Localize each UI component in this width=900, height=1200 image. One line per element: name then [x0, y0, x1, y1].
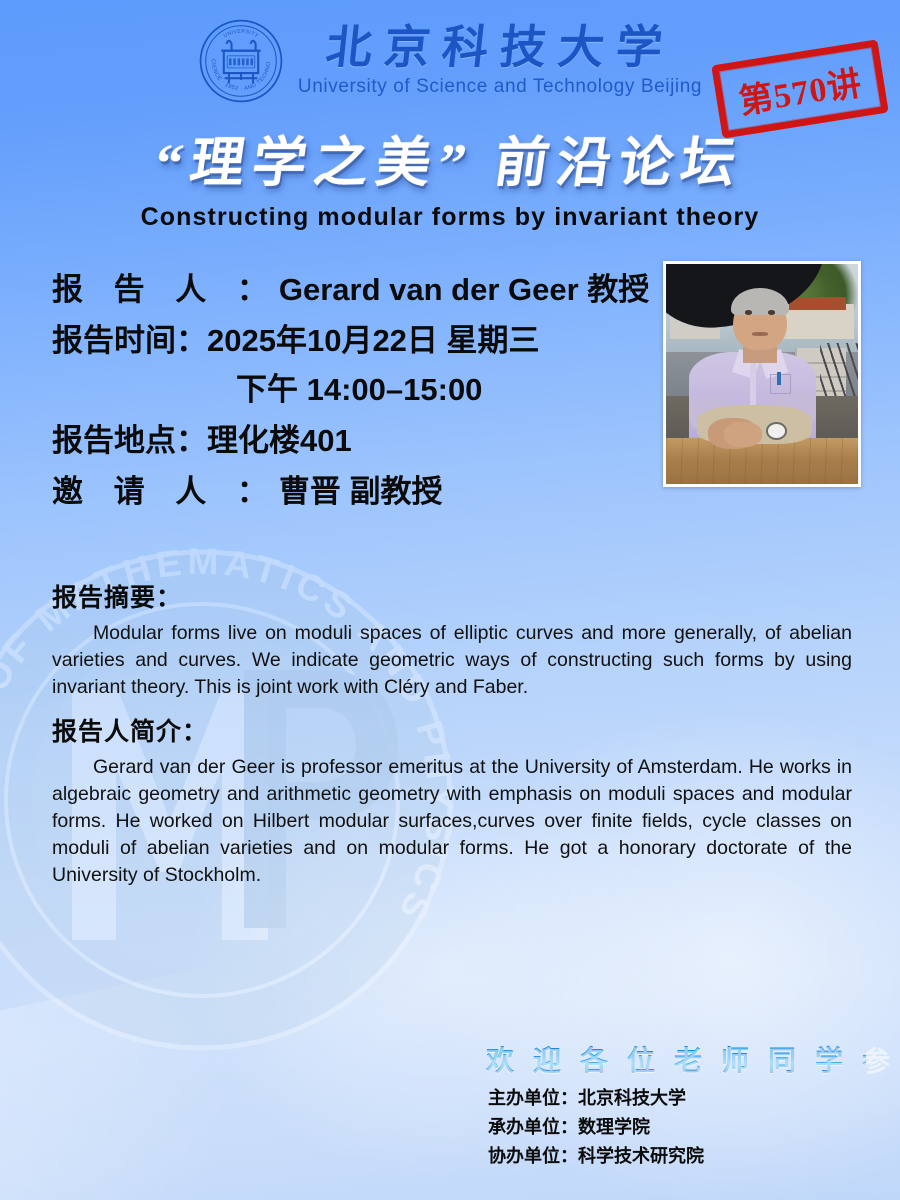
speaker-label: 报 告 人 ： [52, 268, 279, 313]
time-value: 2025年10月22日 星期三 [207, 319, 540, 364]
place-label: 报告地点： [52, 419, 207, 464]
event-info-block: 报 告 人 ： Gerard van der Geer 教授 报告时间： 202… [52, 268, 672, 521]
bio-text: Gerard van der Geer is professor emeritu… [52, 754, 852, 889]
speaker-value: Gerard van der Geer 教授 [279, 268, 649, 313]
organizer-line: 协办单位：科学技术研究院 [488, 1142, 888, 1171]
time-range-value: 下午 14:00–15:00 [236, 368, 482, 413]
poster-canvas: SCHOOL OF MATHEMATICS AND PHYSICS [0, 0, 900, 1200]
time-label: 报告时间： [52, 319, 207, 364]
info-row-time: 报告时间： 2025年10月22日 星期三 [52, 319, 672, 364]
info-row-place: 报告地点： 理化楼401 [52, 419, 672, 464]
abstract-text: Modular forms live on moduli spaces of e… [52, 620, 852, 701]
place-value: 理化楼401 [207, 419, 352, 464]
info-row-time-range: 下午 14:00–15:00 [52, 368, 672, 413]
organizer-line: 承办单位：数理学院 [488, 1113, 888, 1142]
bio-heading: 报告人简介： [52, 712, 852, 748]
forum-title: “理学之美” 前沿论坛 [0, 118, 900, 197]
abstract-section: 报告摘要： Modular forms live on moduli space… [52, 578, 852, 701]
host-value: 曹晋 副教授 [279, 470, 443, 515]
svg-text:UNIVERSITY: UNIVERSITY [223, 29, 260, 40]
abstract-heading: 报告摘要： [52, 578, 852, 614]
organizer-line: 主办单位：北京科技大学 [488, 1084, 888, 1113]
info-row-speaker: 报 告 人 ： Gerard van der Geer 教授 [52, 268, 672, 313]
svg-text:OF SCIENCE · 1952 · AND TECHNO: OF SCIENCE · 1952 · AND TECHNOLOGY [198, 18, 272, 92]
welcome-line: 欢 迎 各 位 老 师 同 学 参 加 ! [486, 1039, 866, 1079]
background-light-sweep [0, 925, 465, 1200]
info-row-host: 邀 请 人 ： 曹晋 副教授 [52, 470, 672, 515]
university-name-cn: 北京科技大学 [323, 24, 676, 72]
bio-section: 报告人简介： Gerard van der Geer is professor … [52, 712, 852, 889]
speaker-photo [663, 261, 861, 487]
organizers-block: 主办单位：北京科技大学 承办单位：数理学院 协办单位：科学技术研究院 [488, 1084, 888, 1171]
university-name-en: University of Science and Technology Bei… [298, 76, 702, 98]
lecture-title: Constructing modular forms by invariant … [0, 203, 900, 232]
university-logo-icon: OF SCIENCE · 1952 · AND TECHNOLOGY UNIVE… [198, 18, 284, 104]
host-label: 邀 请 人 ： [52, 470, 279, 515]
